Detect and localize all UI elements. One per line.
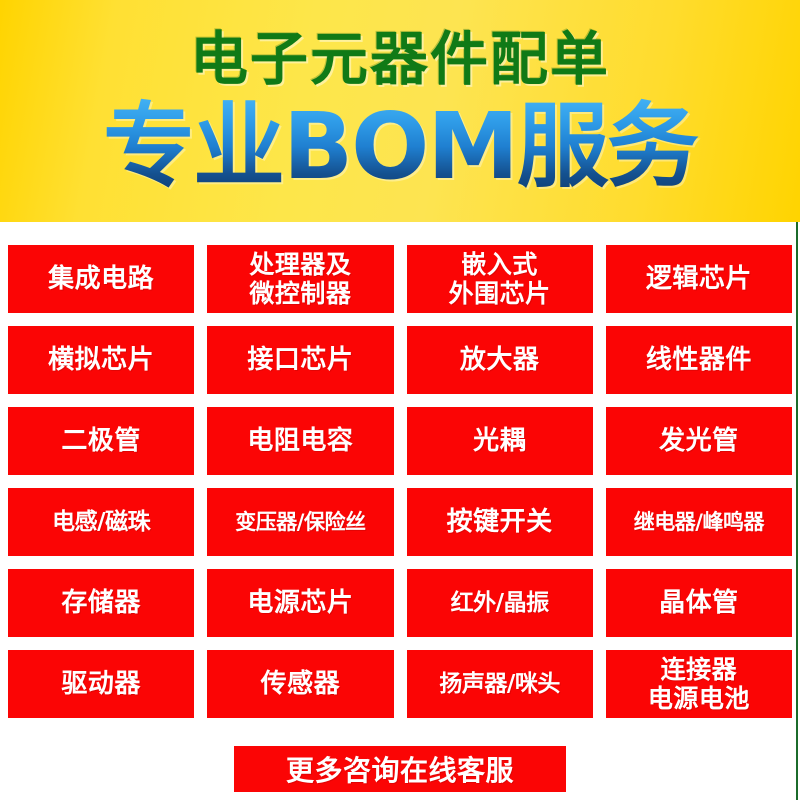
category-button[interactable]: 继电器/峰鸣器: [606, 488, 792, 556]
category-button[interactable]: 电源芯片: [207, 569, 393, 637]
category-button[interactable]: 嵌入式 外围芯片: [407, 245, 593, 313]
category-button[interactable]: 二极管: [8, 407, 194, 475]
category-button[interactable]: 集成电路: [8, 245, 194, 313]
banner-headline-green: 电子元器件配单: [0, 26, 800, 92]
category-button[interactable]: 传感器: [207, 650, 393, 718]
category-button[interactable]: 电感/磁珠: [8, 488, 194, 556]
category-button[interactable]: 线性器件: [606, 326, 792, 394]
category-button[interactable]: 接口芯片: [207, 326, 393, 394]
banner-headline-blue: 专业BOM服务: [0, 95, 800, 199]
right-edge-rule: [796, 222, 798, 800]
category-button[interactable]: 红外/晶振: [407, 569, 593, 637]
category-button[interactable]: 扬声器/咪头: [407, 650, 593, 718]
header-banner: 电子元器件配单 专业BOM服务: [0, 0, 800, 222]
category-button[interactable]: 晶体管: [606, 569, 792, 637]
category-button[interactable]: 光耦: [407, 407, 593, 475]
category-button[interactable]: 变压器/保险丝: [207, 488, 393, 556]
category-button[interactable]: 按键开关: [407, 488, 593, 556]
footer-area: 更多咨询在线客服: [0, 746, 800, 792]
category-button[interactable]: 逻辑芯片: [606, 245, 792, 313]
category-button[interactable]: 处理器及 微控制器: [207, 245, 393, 313]
category-button[interactable]: 连接器 电源电池: [606, 650, 792, 718]
category-grid: 集成电路处理器及 微控制器嵌入式 外围芯片逻辑芯片横拟芯片接口芯片放大器线性器件…: [8, 245, 792, 718]
category-button[interactable]: 驱动器: [8, 650, 194, 718]
contact-customer-service-button[interactable]: 更多咨询在线客服: [234, 746, 566, 792]
category-button[interactable]: 存储器: [8, 569, 194, 637]
category-button[interactable]: 发光管: [606, 407, 792, 475]
category-button[interactable]: 电阻电容: [207, 407, 393, 475]
category-button[interactable]: 放大器: [407, 326, 593, 394]
promo-banner-page: 电子元器件配单 专业BOM服务 集成电路处理器及 微控制器嵌入式 外围芯片逻辑芯…: [0, 0, 800, 800]
category-button[interactable]: 横拟芯片: [8, 326, 194, 394]
